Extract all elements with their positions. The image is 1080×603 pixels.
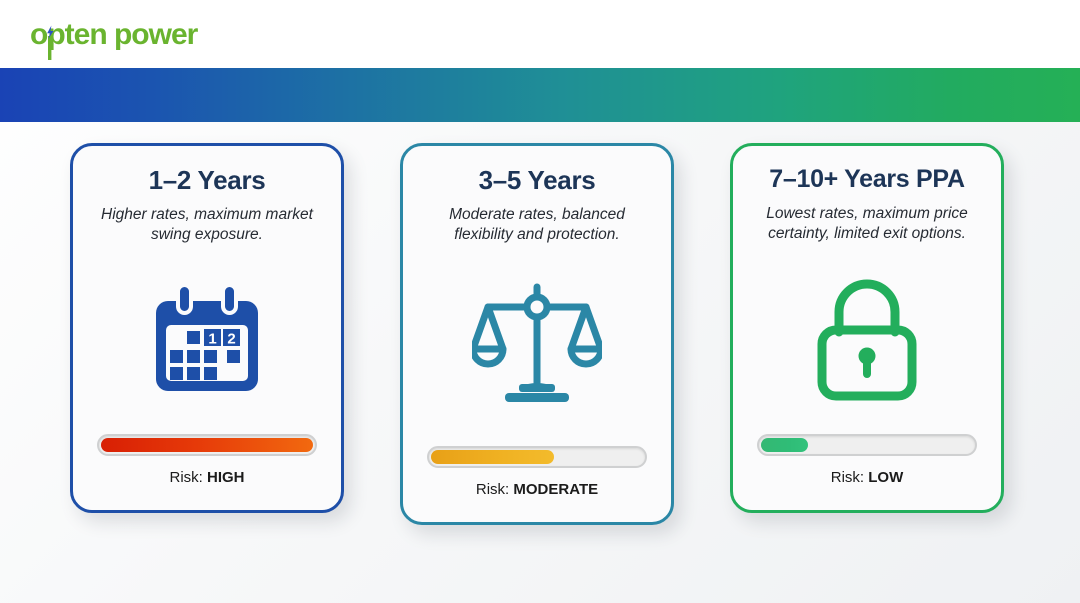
padlock-icon (815, 276, 919, 402)
risk-value: HIGH (207, 469, 245, 486)
risk-zone: Risk: HIGH (89, 434, 325, 510)
calendar-day-1: 1 (208, 330, 216, 347)
brand-logo[interactable]: opten power (30, 14, 200, 58)
risk-zone: Risk: MODERATE (419, 446, 655, 522)
card-subtitle: Moderate rates, balanced flexibility and… (419, 205, 655, 246)
infographic-page: opten power 1–2 Years Higher rates, maxi… (0, 0, 1080, 603)
risk-meter-track (97, 434, 317, 456)
card-3-5-years[interactable]: 3–5 Years Moderate rates, balanced flexi… (400, 143, 674, 525)
risk-prefix: Risk: (831, 469, 864, 486)
risk-label: Risk: HIGH (169, 469, 244, 486)
risk-prefix: Risk: (476, 481, 509, 498)
card-subtitle: Higher rates, maximum market swing expos… (89, 205, 325, 246)
card-title: 7–10+ Years PPA (769, 166, 964, 194)
risk-meter-fill (431, 450, 554, 464)
card-1-2-years[interactable]: 1–2 Years Higher rates, maximum market s… (70, 143, 344, 513)
risk-meter-fill (761, 438, 808, 452)
card-icon-area (749, 245, 985, 434)
card-subtitle: Lowest rates, maximum price certainty, l… (749, 204, 985, 245)
risk-label: Risk: MODERATE (476, 481, 598, 498)
brand-gradient-bar (0, 68, 1080, 122)
risk-label: Risk: LOW (831, 469, 904, 486)
calendar-day-2: 2 (227, 330, 235, 347)
card-icon-area: 1 2 (89, 246, 325, 434)
risk-value: MODERATE (513, 481, 598, 498)
risk-meter-track (757, 434, 977, 456)
card-7-10-years-ppa[interactable]: 7–10+ Years PPA Lowest rates, maximum pr… (730, 143, 1004, 513)
contract-term-cards: 1–2 Years Higher rates, maximum market s… (0, 122, 1080, 603)
risk-meter-track (427, 446, 647, 468)
risk-prefix: Risk: (169, 469, 202, 486)
risk-zone: Risk: LOW (749, 434, 985, 510)
svg-text:opten power: opten power (30, 18, 199, 51)
card-icon-area (419, 246, 655, 446)
opten-power-logomark: opten power (30, 12, 200, 60)
risk-value: LOW (868, 469, 903, 486)
risk-meter-fill (101, 438, 313, 452)
calendar-icon: 1 2 (146, 279, 268, 401)
card-title: 3–5 Years (479, 166, 596, 195)
card-title: 1–2 Years (149, 166, 266, 195)
page-header: opten power (0, 0, 1080, 68)
balance-scales-icon (472, 283, 602, 409)
